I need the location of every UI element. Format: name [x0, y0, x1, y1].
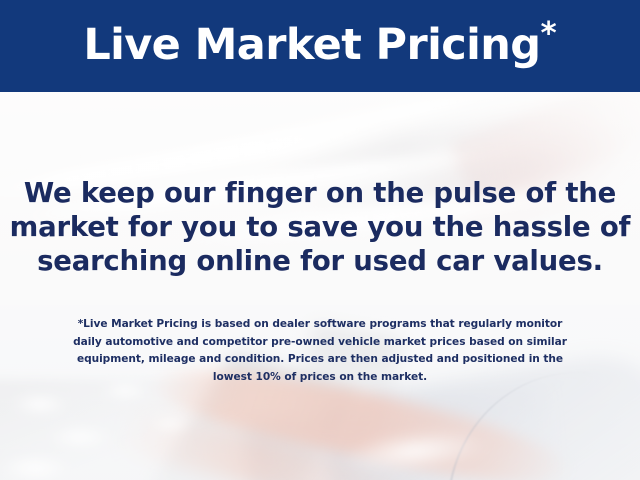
- disclaimer-line-2: daily automotive and competitor pre-owne…: [0, 334, 640, 352]
- disclaimer-line-3: equipment, mileage and condition. Prices…: [0, 351, 640, 369]
- headline-line-1: We keep our finger on the pulse of the: [0, 176, 640, 210]
- header-banner: Live Market Pricing*: [0, 0, 640, 92]
- disclaimer-block: *Live Market Pricing is based on dealer …: [0, 316, 640, 386]
- live-market-pricing-promo-card: Live Market Pricing* We keep our finger …: [0, 0, 640, 480]
- banner-title-asterisk: *: [540, 15, 556, 51]
- disclaimer-line-1: *Live Market Pricing is based on dealer …: [0, 316, 640, 334]
- banner-title: Live Market Pricing*: [83, 24, 556, 67]
- headline-line-2: market for you to save you the hassle of: [0, 210, 640, 244]
- headline-line-3: searching online for used car values.: [0, 244, 640, 278]
- banner-title-text: Live Market Pricing: [83, 20, 540, 70]
- disclaimer-line-4: lowest 10% of prices on the market.: [0, 369, 640, 387]
- headline-block: We keep our finger on the pulse of the m…: [0, 176, 640, 278]
